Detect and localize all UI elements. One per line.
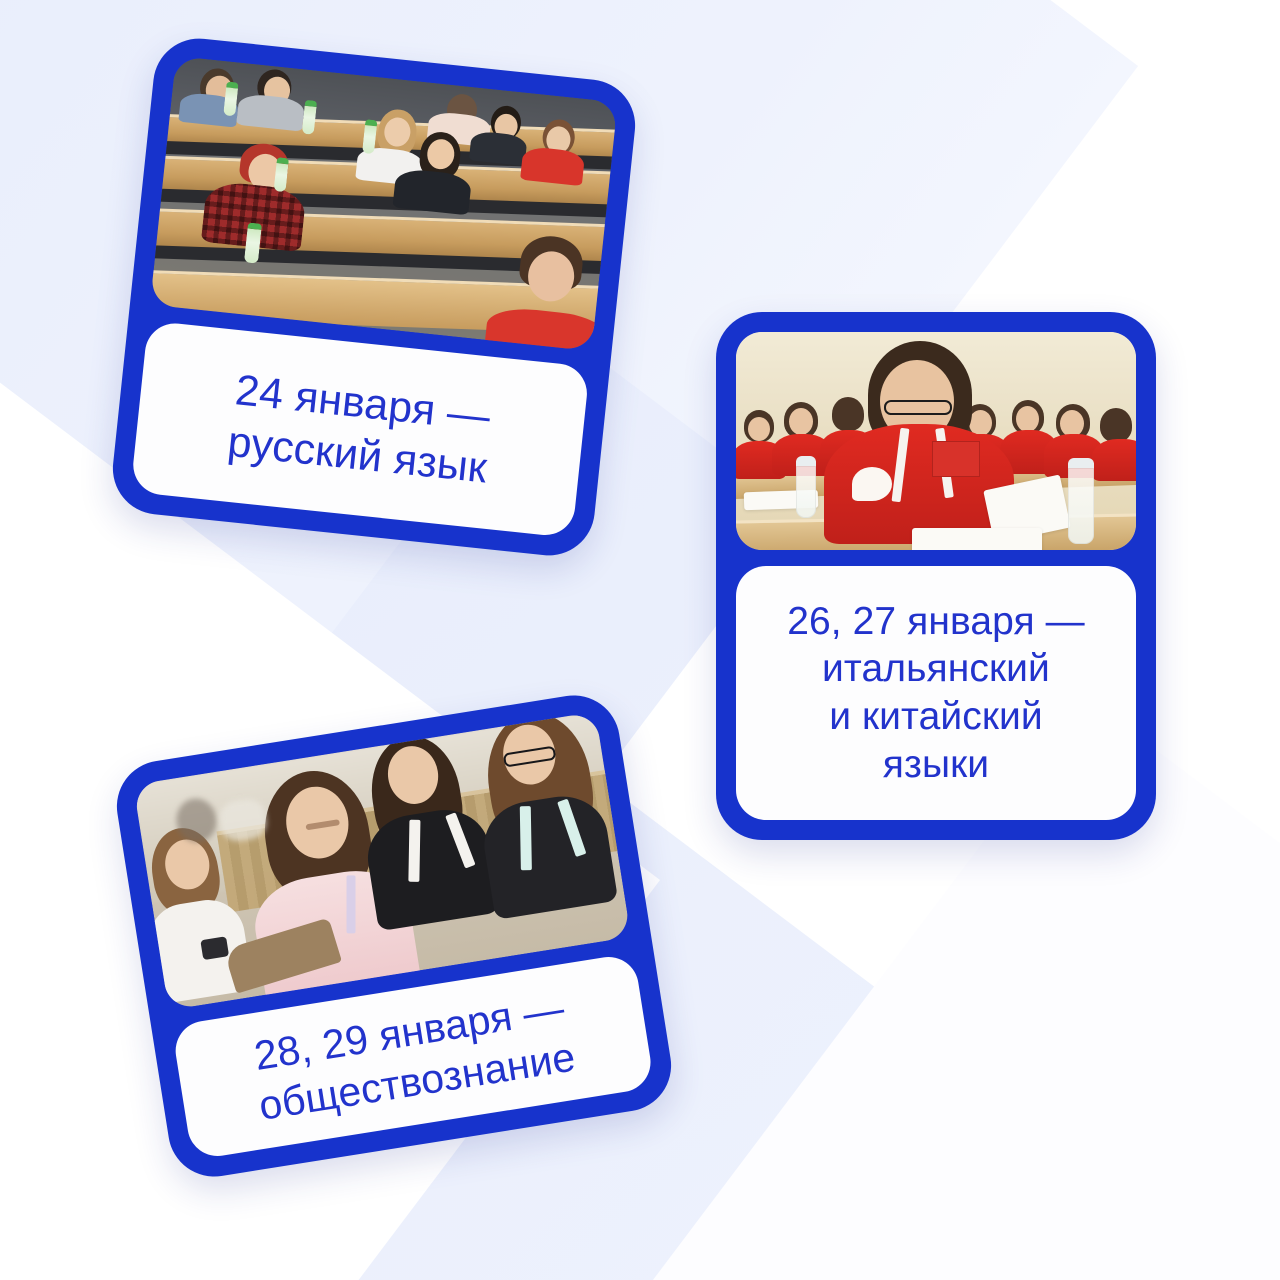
card-russian-label: 24 января — русский язык [130, 321, 590, 538]
phone-icon [200, 936, 229, 960]
card-languages-label-text: 26, 27 января — итальянский и китайский … [787, 598, 1085, 788]
shirt-logo-icon [852, 467, 892, 501]
exam-room-photo [736, 332, 1136, 550]
card-social-label-text: 28, 29 января — обществознание [248, 982, 579, 1131]
badge-icon [932, 441, 980, 477]
poster-canvas: 24 января — русский язык [0, 0, 1280, 1280]
card-social-studies[interactable]: 28, 29 января — обществознание [110, 689, 677, 1183]
card-italian-chinese-languages[interactable]: 26, 27 января — итальянский и китайский … [716, 312, 1156, 840]
card-russian-photo [150, 56, 618, 351]
card-russian-language[interactable]: 24 января — русский язык [108, 34, 639, 560]
glasses-icon [884, 400, 952, 415]
card-languages-photo [736, 332, 1136, 550]
card-languages-label: 26, 27 января — итальянский и китайский … [736, 566, 1136, 820]
card-russian-label-text: 24 января — русский язык [225, 364, 495, 496]
lecture-hall-photo [150, 56, 618, 351]
